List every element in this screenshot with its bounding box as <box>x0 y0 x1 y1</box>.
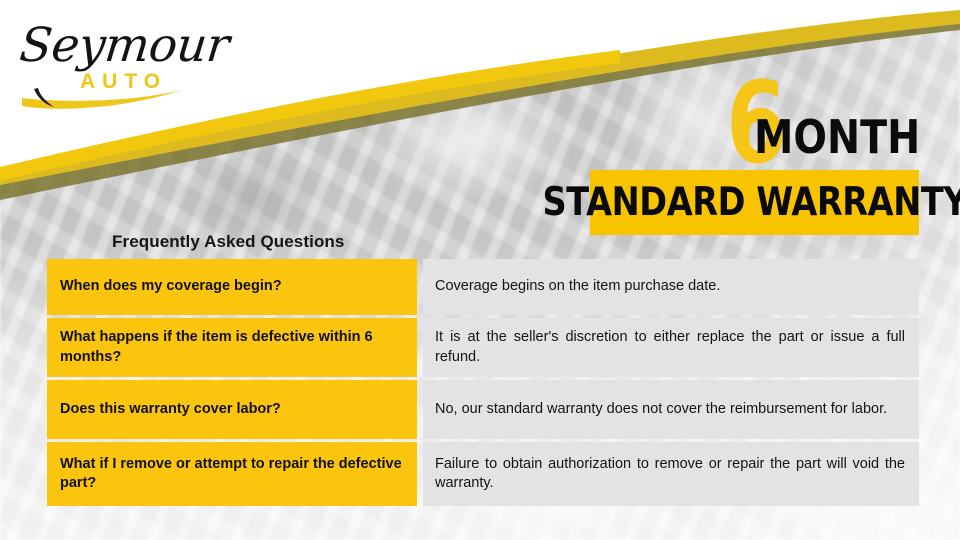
duration-unit: MONTH <box>754 114 920 160</box>
logo-wordmark: Seymour <box>17 18 231 73</box>
standard-warranty-banner: STANDARD WARRANTY <box>590 170 919 235</box>
faq-section-title: Frequently Asked Questions <box>112 232 344 252</box>
warranty-slide: Seymour AUTO 6 MONTH STANDARD WARRANTY F… <box>0 0 960 540</box>
faq-table: When does my coverage begin? Coverage be… <box>47 259 919 506</box>
faq-answer-cell: It is at the seller's discretion to eith… <box>423 318 919 377</box>
banner-label: STANDARD WARRANTY <box>542 180 960 225</box>
faq-answer-text: Coverage begins on the item purchase dat… <box>435 277 905 296</box>
faq-answer-cell: No, our standard warranty does not cover… <box>423 380 919 439</box>
table-row: What if I remove or attempt to repair th… <box>47 442 919 506</box>
faq-question-cell: What if I remove or attempt to repair th… <box>47 442 417 506</box>
logo-swoosh-icon <box>14 76 204 112</box>
table-row: When does my coverage begin? Coverage be… <box>47 259 919 315</box>
table-row: What happens if the item is defective wi… <box>47 318 919 377</box>
faq-answer-text: No, our standard warranty does not cover… <box>435 400 905 419</box>
faq-answer-text: It is at the seller's discretion to eith… <box>435 328 905 367</box>
warranty-duration-headline: 6 MONTH <box>590 58 920 168</box>
faq-answer-text: Failure to obtain authorization to remov… <box>435 455 905 494</box>
faq-question-cell: When does my coverage begin? <box>47 259 417 315</box>
table-row: Does this warranty cover labor? No, our … <box>47 380 919 439</box>
faq-question-cell: What happens if the item is defective wi… <box>47 318 417 377</box>
faq-question-cell: Does this warranty cover labor? <box>47 380 417 439</box>
seymour-auto-logo: Seymour AUTO <box>14 16 204 112</box>
faq-answer-cell: Coverage begins on the item purchase dat… <box>423 259 919 315</box>
faq-answer-cell: Failure to obtain authorization to remov… <box>423 442 919 506</box>
